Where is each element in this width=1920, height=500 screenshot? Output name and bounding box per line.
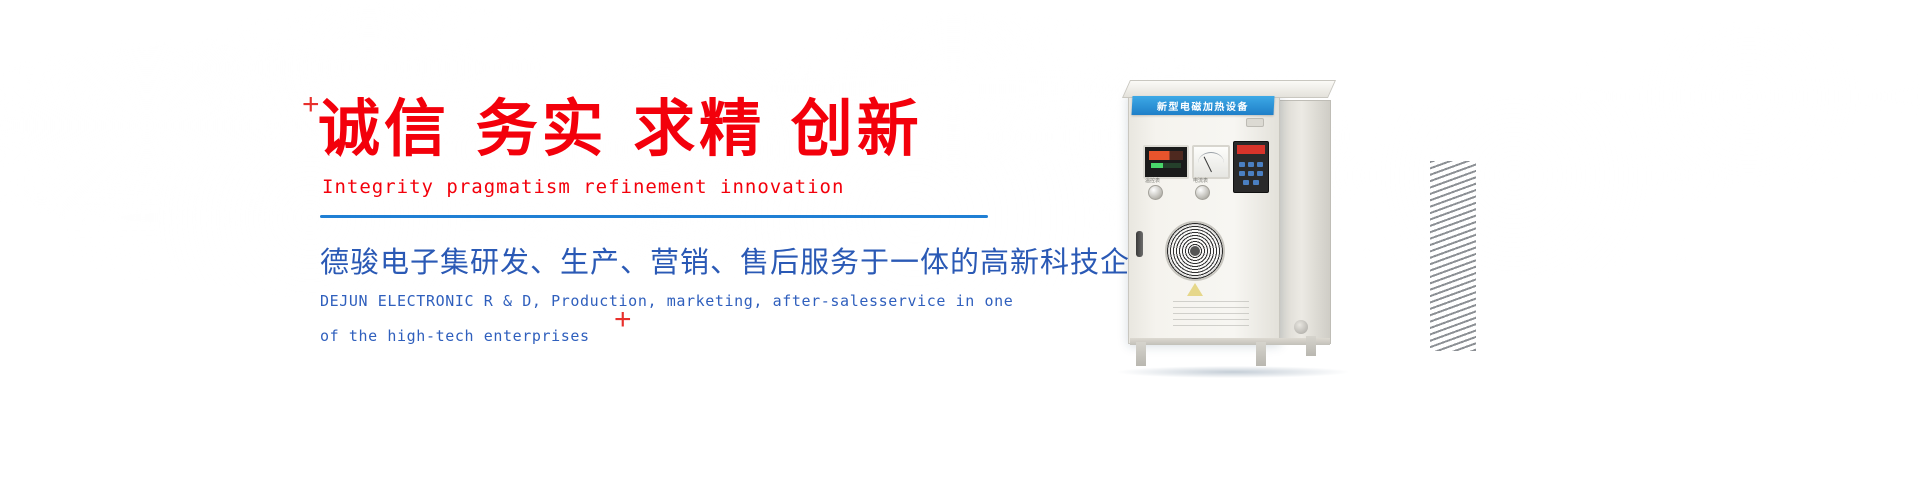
- machine-side-panel: [1278, 100, 1331, 344]
- cloud-decoration: [1560, 20, 1920, 190]
- promotional-banner: + + 诚信 务实 求精 创新 Integrity pragmatism ref…: [0, 0, 1920, 500]
- display-segment-row: [1151, 163, 1181, 168]
- keypad-panel: [1233, 141, 1269, 193]
- subtitle-english-line-2: of the high-tech enterprises: [320, 322, 1018, 351]
- control-knob: [1148, 185, 1163, 200]
- water-streak: [0, 440, 1920, 462]
- keypad-display: [1237, 145, 1265, 154]
- keypad-button: [1257, 162, 1263, 167]
- control-knob: [1195, 185, 1210, 200]
- display-segment-row: [1149, 151, 1183, 160]
- side-latch: [1246, 118, 1264, 127]
- keypad-button: [1239, 162, 1245, 167]
- cooling-fan-icon: [1165, 221, 1225, 281]
- digital-display: [1143, 145, 1189, 179]
- control-label-right: 电流表: [1193, 177, 1208, 184]
- machine-leg: [1306, 336, 1316, 356]
- headline-chinese: 诚信 务实 求精 创新: [318, 96, 1018, 162]
- divider-rule: [320, 215, 988, 218]
- machine-front-panel: 温控表 电流表: [1128, 92, 1280, 344]
- keypad-button: [1257, 171, 1263, 176]
- subtitle-english-line-1: DEJUN ELECTRONIC R & D, Production, mark…: [320, 287, 1018, 316]
- warning-triangle-icon: [1187, 283, 1203, 296]
- machine-leg: [1256, 342, 1266, 366]
- keypad-button: [1239, 171, 1245, 176]
- product-machine-image: 温控表 电流表 新型电磁加热设备: [1128, 74, 1428, 364]
- keypad-button: [1243, 180, 1249, 185]
- keypad-button: [1248, 162, 1254, 167]
- meter-arc: [1198, 152, 1224, 163]
- control-label-left: 温控表: [1145, 177, 1160, 184]
- subtitle-chinese: 德骏电子集研发、生产、营销、售后服务于一体的高新科技企业: [320, 239, 1018, 281]
- banner-copy-block: 诚信 务实 求精 创新 Integrity pragmatism refinem…: [318, 96, 1018, 351]
- machine-leg: [1136, 342, 1146, 366]
- machine-shadow: [1118, 366, 1348, 378]
- door-handle: [1136, 231, 1143, 257]
- water-streak: [0, 470, 1920, 496]
- plus-decoration-icon: +: [302, 90, 320, 120]
- headline-english: Integrity pragmatism refinement innovati…: [322, 176, 1018, 198]
- keypad-button: [1248, 171, 1254, 176]
- machine-vent-grille: [1430, 161, 1476, 351]
- machine-base: [1130, 338, 1330, 345]
- machine-banner-label: 新型电磁加热设备: [1132, 96, 1275, 115]
- spec-plate: [1173, 301, 1249, 331]
- side-port: [1294, 320, 1308, 334]
- keypad-button: [1253, 180, 1259, 185]
- water-streak: [0, 392, 1920, 422]
- analog-meter: [1192, 145, 1230, 179]
